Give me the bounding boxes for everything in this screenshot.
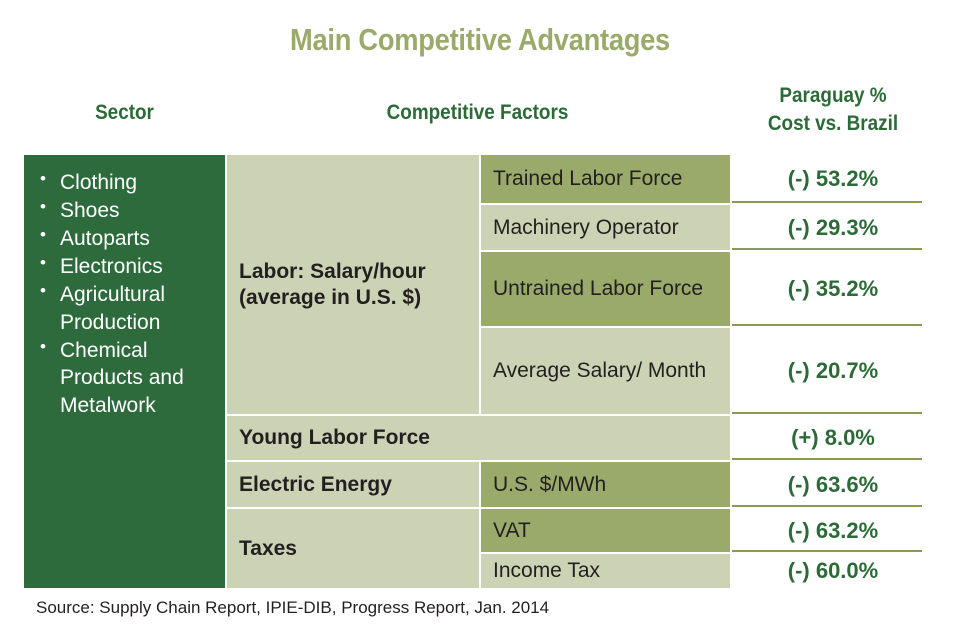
- list-item: Clothing: [60, 169, 215, 197]
- list-item: Shoes: [60, 197, 215, 225]
- factor-cell-vat: VAT: [481, 509, 730, 552]
- factor-cell-income-tax: Income Tax: [481, 554, 730, 588]
- percent-column: (-) 53.2% (-) 29.3% (-) 35.2% (-) 20.7% …: [730, 155, 936, 588]
- factors-grid: Labor: Salary/hour (average in U.S. $) T…: [227, 155, 730, 588]
- list-item: Electronics: [60, 253, 215, 281]
- comparison-table: Clothing Shoes Autoparts Electronics Agr…: [24, 155, 936, 588]
- header-competitive-factors: Competitive Factors: [250, 101, 705, 125]
- source-note: Source: Supply Chain Report, IPIE-DIB, P…: [36, 598, 549, 618]
- sector-column: Clothing Shoes Autoparts Electronics Agr…: [24, 155, 225, 588]
- percent-value-vat: (-) 63.2%: [730, 509, 936, 552]
- percent-value-trained: (-) 53.2%: [730, 155, 936, 203]
- factor-cell-average-salary-month: Average Salary/ Month: [481, 328, 730, 414]
- factor-cell-usd-per-mwh: U.S. $/MWh: [481, 462, 730, 507]
- group-cell-labor: Labor: Salary/hour (average in U.S. $): [227, 155, 479, 414]
- group-cell-electric-energy: Electric Energy: [227, 462, 479, 507]
- page-title: Main Competitive Advantages: [58, 22, 903, 58]
- group-cell-young-labor-force: Young Labor Force: [227, 416, 730, 460]
- column-headers: Sector Competitive Factors Paraguay % Co…: [24, 82, 936, 150]
- factor-cell-trained-labor-force: Trained Labor Force: [481, 155, 730, 203]
- percent-value-mwh: (-) 63.6%: [730, 462, 936, 507]
- header-pct-line1: Paraguay %: [740, 82, 925, 110]
- percent-value-machinery: (-) 29.3%: [730, 205, 936, 250]
- list-item: Agricultural Production: [60, 281, 215, 337]
- percent-value-young-labor-force: (+) 8.0%: [730, 416, 936, 460]
- header-sector: Sector: [34, 101, 215, 125]
- list-item: Autoparts: [60, 225, 215, 253]
- percent-value-income-tax: (-) 60.0%: [730, 554, 936, 588]
- list-item: Chemical Products and Metalwork: [60, 337, 215, 421]
- header-paraguay-percent: Paraguay % Cost vs. Brazil: [740, 82, 925, 138]
- percent-value-average-salary: (-) 20.7%: [730, 328, 936, 414]
- percent-value-untrained: (-) 35.2%: [730, 252, 936, 326]
- header-pct-line2: Cost vs. Brazil: [740, 110, 925, 138]
- factor-cell-untrained-labor-force: Untrained Labor Force: [481, 252, 730, 326]
- sector-list: Clothing Shoes Autoparts Electronics Agr…: [38, 169, 215, 420]
- factor-cell-machinery-operator: Machinery Operator: [481, 205, 730, 250]
- group-cell-taxes: Taxes: [227, 509, 479, 588]
